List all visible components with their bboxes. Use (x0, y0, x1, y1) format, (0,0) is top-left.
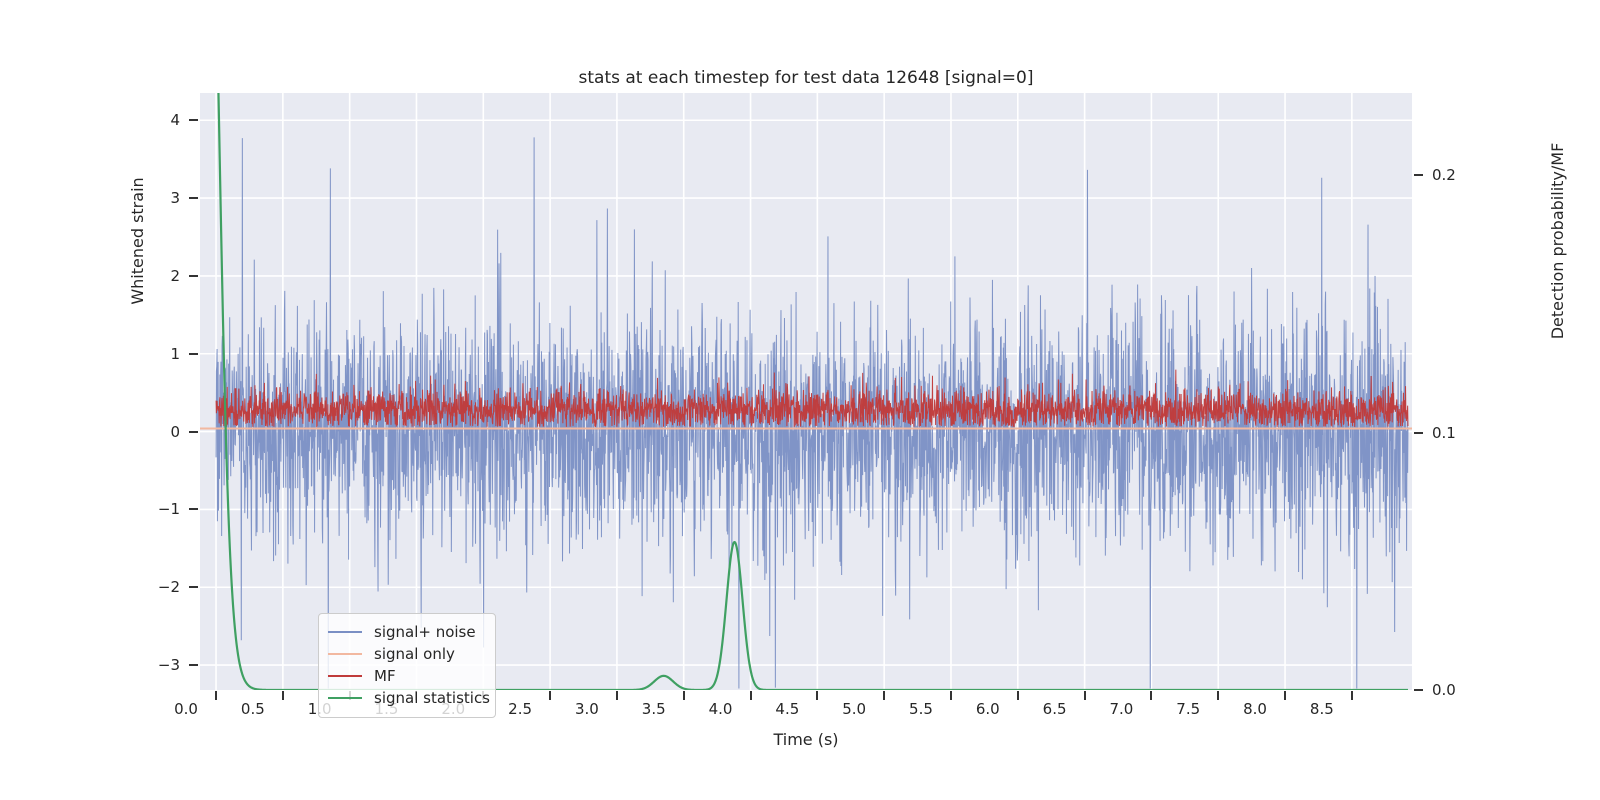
legend-label: signal only (374, 645, 455, 663)
x-tick-mark (1284, 691, 1286, 700)
x-tick-mark (1150, 691, 1152, 700)
y-tick-mark-left (189, 353, 198, 355)
legend-item-0[interactable]: signal+ noise (328, 621, 486, 643)
x-tick-label: 0.0 (156, 700, 216, 718)
plot-area (200, 93, 1412, 690)
x-tick-label: 6.5 (1025, 700, 1085, 718)
legend-color-swatch (328, 675, 362, 677)
y-axis-label-right: Detection probability/MF (1548, 91, 1567, 391)
y-tick-label-left: −1 (140, 500, 180, 518)
y-tick-label-left: −3 (140, 656, 180, 674)
x-tick-mark (683, 691, 685, 700)
x-tick-label: 4.0 (691, 700, 751, 718)
x-tick-mark (816, 691, 818, 700)
figure-canvas: stats at each timestep for test data 126… (0, 0, 1600, 800)
y-tick-label-right: 0.0 (1432, 681, 1492, 699)
legend-item-3[interactable]: signal statistics (328, 687, 486, 709)
x-tick-mark (1217, 691, 1219, 700)
x-tick-label: 3.0 (557, 700, 617, 718)
chart-legend: signal+ noisesignal onlyMFsignal statist… (318, 613, 496, 718)
y-tick-mark-left (189, 586, 198, 588)
legend-item-2[interactable]: MF (328, 665, 486, 687)
x-axis-label: Time (s) (200, 730, 1412, 749)
x-tick-label: 2.5 (490, 700, 550, 718)
y-tick-mark-left (189, 664, 198, 666)
y-tick-mark-right (1414, 689, 1423, 691)
legend-label: signal+ noise (374, 623, 476, 641)
x-tick-label: 7.0 (1091, 700, 1151, 718)
y-tick-mark-left (189, 508, 198, 510)
x-tick-mark (549, 691, 551, 700)
x-tick-mark (282, 691, 284, 700)
x-tick-label: 4.5 (757, 700, 817, 718)
x-tick-mark (750, 691, 752, 700)
y-axis-label-left: Whitened strain (128, 91, 147, 391)
x-tick-label: 0.5 (223, 700, 283, 718)
x-tick-label: 8.0 (1225, 700, 1285, 718)
x-tick-mark (950, 691, 952, 700)
y-tick-label-left: 0 (140, 423, 180, 441)
x-tick-mark (1351, 691, 1353, 700)
x-tick-label: 5.5 (891, 700, 951, 718)
x-tick-mark (616, 691, 618, 700)
x-tick-label: 5.0 (824, 700, 884, 718)
legend-label: signal statistics (374, 689, 490, 707)
series-layer (200, 93, 1412, 690)
legend-color-swatch (328, 697, 362, 699)
legend-label: MF (374, 667, 396, 685)
y-tick-mark-left (189, 431, 198, 433)
x-tick-mark (1084, 691, 1086, 700)
y-tick-mark-left (189, 275, 198, 277)
x-tick-label: 3.5 (624, 700, 684, 718)
x-tick-mark (215, 691, 217, 700)
legend-item-1[interactable]: signal only (328, 643, 486, 665)
legend-color-swatch (328, 653, 362, 655)
x-tick-label: 8.5 (1292, 700, 1352, 718)
legend-color-swatch (328, 631, 362, 633)
y-tick-mark-right (1414, 174, 1423, 176)
y-tick-mark-left (189, 119, 198, 121)
y-tick-label-right: 0.2 (1432, 166, 1492, 184)
x-tick-label: 6.0 (958, 700, 1018, 718)
x-tick-label: 7.5 (1158, 700, 1218, 718)
y-tick-mark-right (1414, 432, 1423, 434)
x-tick-mark (883, 691, 885, 700)
page-title: stats at each timestep for test data 126… (200, 68, 1412, 88)
x-tick-mark (1017, 691, 1019, 700)
y-tick-mark-left (189, 197, 198, 199)
y-tick-label-right: 0.1 (1432, 424, 1492, 442)
y-tick-label-left: −2 (140, 578, 180, 596)
